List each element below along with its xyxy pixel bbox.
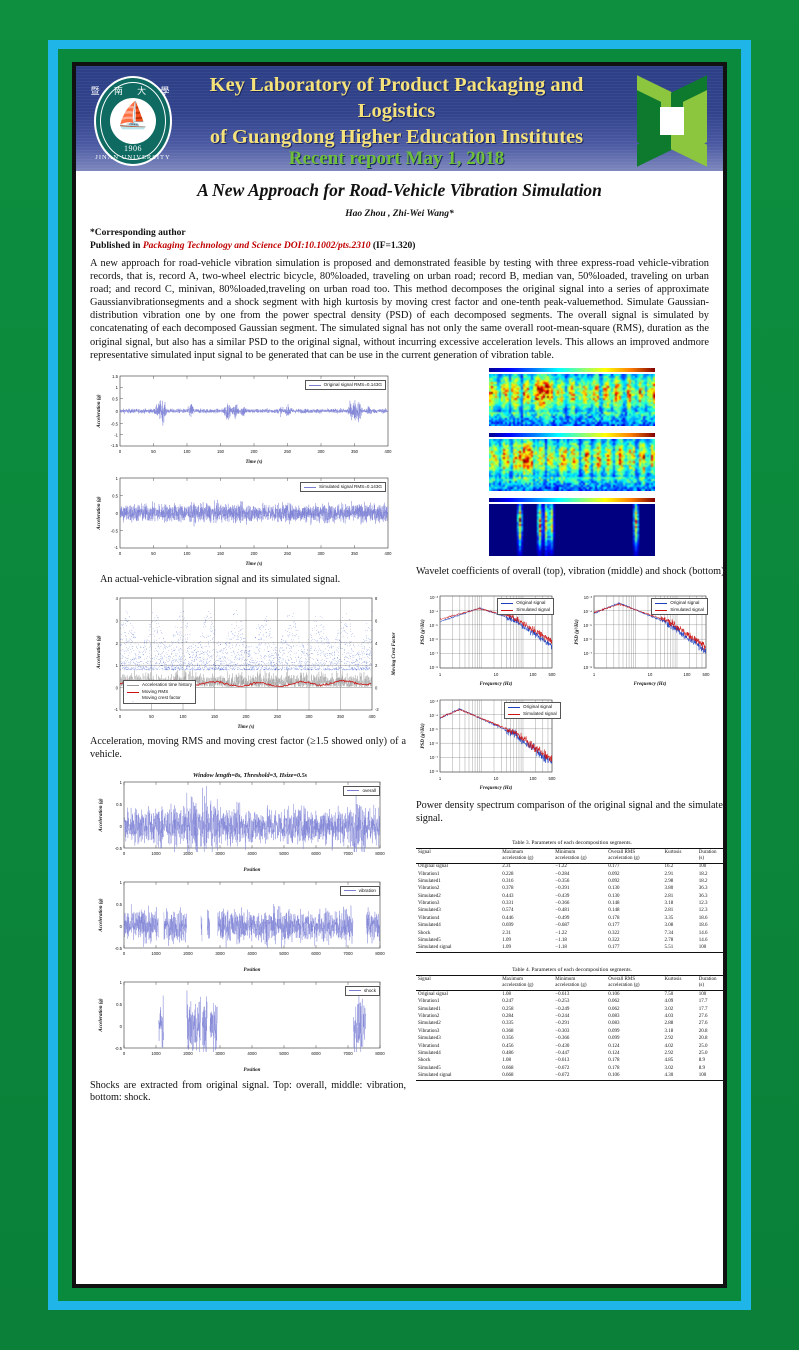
svg-text:0.5: 0.5 <box>116 902 122 907</box>
legend-swatch <box>127 692 139 693</box>
cell-value: 0.148 <box>606 900 662 907</box>
cell-value: 3.08 <box>662 923 696 930</box>
cell-value: 18.6 <box>697 923 723 930</box>
svg-text:400: 400 <box>369 714 377 719</box>
svg-text:0: 0 <box>116 409 119 414</box>
cell-value: 18.2 <box>697 878 723 885</box>
published-in-line: Published in Packaging Technology and Sc… <box>90 240 723 253</box>
svg-text:0: 0 <box>120 824 123 829</box>
svg-text:1: 1 <box>116 664 119 669</box>
legend-swatch <box>309 385 321 386</box>
cell-value: −0.356 <box>553 878 606 885</box>
cell-signal: Simulated signal <box>416 945 500 953</box>
svg-text:Time (s): Time (s) <box>246 460 263 465</box>
svg-text:4000: 4000 <box>247 851 257 856</box>
svg-text:4: 4 <box>375 641 378 646</box>
cell-value: −1.22 <box>553 930 606 937</box>
cell-value: −0.291 <box>553 1021 606 1028</box>
logo-university-name: JINAN UNIVERSITY <box>90 154 176 161</box>
th-signal: Signal <box>416 976 500 991</box>
cell-value: 2.81 <box>662 908 696 915</box>
cell-value: 0.668 <box>500 1065 553 1072</box>
svg-text:Acceleration (g): Acceleration (g) <box>97 496 102 531</box>
legend-decomp-vibration: vibration <box>340 886 380 897</box>
svg-text:150: 150 <box>217 551 225 556</box>
svg-text:-1: -1 <box>114 545 118 550</box>
svg-text:10⁻⁶: 10⁻⁶ <box>429 637 438 642</box>
th-rms-accel: Overall RMS acceleration (g) <box>606 848 662 863</box>
wav1-canvas <box>489 374 655 426</box>
table-row: Simulated40.699−0.6870.1773.0818.6 <box>416 923 723 930</box>
svg-text:1: 1 <box>120 880 123 885</box>
svg-text:3000: 3000 <box>215 851 225 856</box>
cell-value: −0.366 <box>553 900 606 907</box>
table-row: Simulated51.09−1.180.3222.7814.6 <box>416 937 723 944</box>
cell-value: 16.2 <box>662 863 696 871</box>
legend-label: overall <box>362 788 376 795</box>
legend-label: Simulated signal RMS=0.143G <box>319 484 382 491</box>
wavelet-figure-group <box>416 368 723 556</box>
table3: Signal Maximum acceleration (g) Minimum … <box>416 848 723 954</box>
svg-text:0.5: 0.5 <box>116 802 122 807</box>
cell-value: 0.099 <box>606 1036 662 1043</box>
svg-text:-0.5: -0.5 <box>115 846 123 851</box>
svg-text:-1: -1 <box>114 707 118 712</box>
chart-psd-shock: 1 10 100 500 10⁻³ 10⁻⁴ 10⁻⁵ 10⁻⁶ 10⁻⁷ 10… <box>416 692 723 792</box>
cell-value: 0.177 <box>606 945 662 953</box>
cell-signal: Simulated5 <box>416 937 500 944</box>
th-max-accel: Maximum acceleration (g) <box>500 976 553 991</box>
colorbar-jet-icon <box>489 498 655 502</box>
svg-text:250: 250 <box>274 714 282 719</box>
legend-swatch <box>349 990 361 991</box>
svg-text:100: 100 <box>530 672 538 677</box>
caption-signal-figure: An actual-vehicle-vibration signal and i… <box>100 574 406 587</box>
svg-text:2: 2 <box>375 664 378 669</box>
svg-text:3000: 3000 <box>215 951 225 956</box>
legend-psd-vibration: Original signal Simulated signal <box>651 598 708 615</box>
cell-value: 0.178 <box>606 1058 662 1065</box>
cell-value: 0.316 <box>500 878 553 885</box>
svg-text:0: 0 <box>123 1051 126 1056</box>
legend-decomp-overall: overall <box>343 786 380 797</box>
svg-text:4: 4 <box>116 596 119 601</box>
poster-page: 暨 南 大 學 ⛵ 1906 JINAN UNIVERSITY Key Labo… <box>76 66 723 1284</box>
table-row: Simulated30.574−0.4810.1482.8112.3 <box>416 908 723 915</box>
cell-value: 2.81 <box>662 893 696 900</box>
svg-text:Position: Position <box>244 968 261 973</box>
svg-text:0: 0 <box>119 449 122 454</box>
table-row: Simulated20.335−0.2910.0832.8827.6 <box>416 1021 723 1028</box>
cell-value: 12.3 <box>697 908 723 915</box>
svg-text:200: 200 <box>251 551 259 556</box>
cell-value: 36.3 <box>697 893 723 900</box>
svg-text:1000: 1000 <box>151 851 161 856</box>
svg-text:5000: 5000 <box>279 851 289 856</box>
cell-value: 0.177 <box>606 863 662 871</box>
cell-value: 2.92 <box>662 1036 696 1043</box>
svg-text:10⁻⁸: 10⁻⁸ <box>429 665 438 670</box>
table4-block: Table 4. Parameters of each decompositio… <box>416 967 723 1081</box>
cell-signal: Simulated1 <box>416 1006 500 1013</box>
legend-swatch <box>508 714 520 715</box>
cell-signal: Shock <box>416 1058 500 1065</box>
svg-text:250: 250 <box>284 551 292 556</box>
svg-text:50: 50 <box>151 551 156 556</box>
cell-value: 0.106 <box>606 991 662 999</box>
svg-text:Position: Position <box>244 1068 261 1073</box>
svg-text:10⁻³: 10⁻³ <box>430 699 439 704</box>
svg-text:6000: 6000 <box>311 851 321 856</box>
svg-text:10: 10 <box>648 672 653 677</box>
legend-swatch <box>501 610 513 611</box>
cell-value: 0.574 <box>500 908 553 915</box>
cell-signal: Simulated4 <box>416 923 500 930</box>
svg-text:2000: 2000 <box>183 1051 193 1056</box>
cell-value: 2.91 <box>662 871 696 878</box>
svg-text:1: 1 <box>120 980 123 985</box>
svg-text:1.5: 1.5 <box>112 374 118 379</box>
cell-value: 100 <box>697 863 723 871</box>
table4-caption: Table 4. Parameters of each decompositio… <box>416 967 723 973</box>
legend-swatch <box>508 707 520 708</box>
svg-text:0: 0 <box>375 686 378 691</box>
cell-value: 2.31 <box>500 863 553 871</box>
legend-crest-factor: Acceleration time history Moving RMS ·Mo… <box>123 680 196 704</box>
svg-text:0: 0 <box>123 951 126 956</box>
cell-value: 36.3 <box>697 886 723 893</box>
svg-text:500: 500 <box>703 672 711 677</box>
cell-value: 14.6 <box>697 937 723 944</box>
table-row: Shock1.08−0.6130.1784.858.9 <box>416 1058 723 1065</box>
svg-text:2: 2 <box>116 641 119 646</box>
cell-value: 20.8 <box>697 1036 723 1043</box>
abstract-text: A new approach for road-vehicle vibratio… <box>90 257 709 362</box>
svg-text:1000: 1000 <box>151 951 161 956</box>
cell-value: 0.668 <box>500 1073 553 1081</box>
svg-text:4000: 4000 <box>247 1051 257 1056</box>
cell-value: 4.85 <box>662 1058 696 1065</box>
cell-value: −0.284 <box>553 871 606 878</box>
svg-text:0: 0 <box>120 924 123 929</box>
cell-value: 3.80 <box>662 886 696 893</box>
cell-signal: Simulated2 <box>416 1021 500 1028</box>
psd-row: 1 10 100 500 10⁻³ 10⁻⁴ 10⁻⁵ 10⁻⁶ 10⁻⁷ 10… <box>416 588 723 688</box>
svg-text:2000: 2000 <box>183 851 193 856</box>
cell-value: −0.253 <box>553 999 606 1006</box>
cell-signal: Vibration2 <box>416 1013 500 1020</box>
th-kurtosis: Kurtosis <box>662 848 696 863</box>
table3-body: Original signal2.31−1.220.17716.2100Vibr… <box>416 863 723 953</box>
table-row: Vibration40.456−0.4300.1244.0225.0 <box>416 1043 723 1050</box>
svg-text:Window length=8s, Threshold=3,: Window length=8s, Threshold=3, Hsize=0.5… <box>193 772 308 779</box>
cell-value: −1.18 <box>553 937 606 944</box>
cell-value: 1.08 <box>500 991 553 999</box>
svg-text:Acceleration (g): Acceleration (g) <box>99 898 104 933</box>
cell-value: 17.7 <box>697 1006 723 1013</box>
svg-text:PSD (g²/Hz): PSD (g²/Hz) <box>420 723 426 749</box>
cell-value: 0.322 <box>606 930 662 937</box>
cell-signal: Vibration3 <box>416 1028 500 1035</box>
legend-swatch <box>127 685 139 686</box>
svg-text:100: 100 <box>684 672 692 677</box>
th-rms-accel: Overall RMS acceleration (g) <box>606 976 662 991</box>
table-row: Original signal1.08−0.6130.1067.50100 <box>416 991 723 999</box>
cell-value: 0.322 <box>606 937 662 944</box>
table-row: Vibration40.446−0.4990.1783.3518.6 <box>416 915 723 922</box>
svg-text:10⁻⁵: 10⁻⁵ <box>583 623 592 628</box>
cell-value: 8.9 <box>697 1065 723 1072</box>
poster-border-cyan: 暨 南 大 學 ⛵ 1906 JINAN UNIVERSITY Key Labo… <box>48 40 751 1310</box>
poster-border-green: 暨 南 大 學 ⛵ 1906 JINAN UNIVERSITY Key Labo… <box>58 49 741 1301</box>
svg-text:1000: 1000 <box>151 1051 161 1056</box>
svg-text:Acceleration (g): Acceleration (g) <box>99 998 104 1033</box>
legend-label: shock <box>364 988 376 995</box>
svg-text:0: 0 <box>116 511 119 516</box>
cell-value: 27.6 <box>697 1021 723 1028</box>
publication-info: *Corresponding author Published in Packa… <box>90 227 723 253</box>
table-row: Vibration20.378−0.3910.1303.8036.3 <box>416 886 723 893</box>
cell-value: −1.22 <box>553 863 606 871</box>
table4: Signal Maximum acceleration (g) Minimum … <box>416 975 723 1081</box>
left-column: 0 50 100 150 200 250 300 350 400 1.5 1 <box>90 368 406 1111</box>
wavelet-overall <box>489 368 655 426</box>
svg-text:300: 300 <box>318 449 326 454</box>
cell-value: 5.51 <box>662 945 696 953</box>
cell-value: 7.34 <box>662 930 696 937</box>
chart-decomp-overall: Window length=8s, Threshold=3, Hsize=0.5… <box>90 768 406 876</box>
legend-decomp-shock: shock <box>345 986 380 997</box>
table-row: Vibration30.331−0.3660.1483.1812.3 <box>416 900 723 907</box>
cell-signal: Simulated4 <box>416 1050 500 1057</box>
chart-decomp-vibration: 010002000300040005000600070008000 1 0.5 … <box>90 876 406 976</box>
svg-text:6000: 6000 <box>311 1051 321 1056</box>
svg-text:0: 0 <box>116 686 119 691</box>
svg-text:10⁻³: 10⁻³ <box>584 595 593 600</box>
table-row: Simulated signal1.09−1.180.1775.51100 <box>416 945 723 953</box>
caption-crest-figure: Acceleration, moving RMS and moving cres… <box>90 736 406 761</box>
cell-value: 0.456 <box>500 1043 553 1050</box>
svg-text:8: 8 <box>375 596 378 601</box>
cell-signal: Vibration3 <box>416 900 500 907</box>
table-row: Vibration30.368−0.3030.0993.1820.8 <box>416 1028 723 1035</box>
author-list: Hao Zhou , Zhi-Wei Wang* <box>76 209 723 219</box>
table-row: Vibration10.228−0.2840.0922.9118.2 <box>416 871 723 878</box>
svg-text:0: 0 <box>119 551 122 556</box>
svg-text:Moving Crest Factor: Moving Crest Factor <box>392 633 397 677</box>
svg-text:100: 100 <box>184 551 192 556</box>
cell-signal: Simulated signal <box>416 1073 500 1081</box>
cell-signal: Simulated3 <box>416 1036 500 1043</box>
cell-value: 27.6 <box>697 1013 723 1020</box>
svg-text:10⁻³: 10⁻³ <box>430 595 439 600</box>
svg-text:50: 50 <box>151 449 156 454</box>
cell-signal: Shock <box>416 930 500 937</box>
report-date: Recent report May 1, 2018 <box>180 147 613 170</box>
svg-text:Time (s): Time (s) <box>246 562 263 567</box>
cell-signal: Vibration4 <box>416 915 500 922</box>
svg-text:1: 1 <box>116 476 119 481</box>
table4-header-row: Signal Maximum acceleration (g) Minimum … <box>416 976 723 991</box>
svg-text:4000: 4000 <box>247 951 257 956</box>
cell-value: −0.672 <box>553 1073 606 1081</box>
table-row: Simulated30.356−0.3660.0992.9220.8 <box>416 1036 723 1043</box>
cell-value: 100 <box>697 1073 723 1081</box>
cell-value: 2.98 <box>662 878 696 885</box>
wav3-canvas <box>489 504 655 556</box>
svg-text:PSD (g²/Hz): PSD (g²/Hz) <box>574 619 580 645</box>
svg-text:Time (s): Time (s) <box>238 725 255 730</box>
cell-signal: Vibration1 <box>416 871 500 878</box>
svg-text:7000: 7000 <box>343 851 353 856</box>
cell-value: 0.356 <box>500 1036 553 1043</box>
svg-text:100: 100 <box>530 776 538 781</box>
cell-signal: Simulated5 <box>416 1065 500 1072</box>
cell-value: −0.447 <box>553 1050 606 1057</box>
svg-text:1: 1 <box>120 780 123 785</box>
legend-swatch <box>655 610 667 611</box>
svg-text:500: 500 <box>549 672 557 677</box>
cell-value: 0.331 <box>500 900 553 907</box>
svg-text:3: 3 <box>116 619 119 624</box>
svg-text:Frequency (Hz): Frequency (Hz) <box>480 786 513 791</box>
svg-text:10⁻⁶: 10⁻⁶ <box>583 637 592 642</box>
cell-value: 1.09 <box>500 945 553 953</box>
svg-text:5000: 5000 <box>279 951 289 956</box>
cell-value: 2.88 <box>662 1021 696 1028</box>
th-min-accel: Minimum acceleration (g) <box>553 976 606 991</box>
logo-top-text: 暨 南 大 學 <box>90 84 176 97</box>
svg-text:Position: Position <box>244 868 261 873</box>
cell-value: 17.7 <box>697 999 723 1006</box>
svg-text:1: 1 <box>439 776 442 781</box>
legend-swatch <box>347 790 359 791</box>
svg-text:250: 250 <box>284 449 292 454</box>
svg-text:0: 0 <box>123 851 126 856</box>
svg-text:150: 150 <box>217 449 225 454</box>
table-row: Simulated signal0.668−0.6720.1064.30100 <box>416 1073 723 1081</box>
chart-psd-overall: 1 10 100 500 10⁻³ 10⁻⁴ 10⁻⁵ 10⁻⁶ 10⁻⁷ 10… <box>416 588 566 688</box>
svg-text:10⁻⁴: 10⁻⁴ <box>583 609 592 614</box>
cell-value: 8.9 <box>697 1058 723 1065</box>
svg-text:100: 100 <box>180 714 188 719</box>
cell-value: 3.18 <box>662 1028 696 1035</box>
svg-text:10⁻⁸: 10⁻⁸ <box>583 665 592 670</box>
legend-psd-overall: Original signal Simulated signal <box>497 598 554 615</box>
svg-text:-1.5: -1.5 <box>111 443 119 448</box>
svg-text:350: 350 <box>351 551 359 556</box>
university-logo-icon: 暨 南 大 學 ⛵ 1906 JINAN UNIVERSITY <box>90 74 176 166</box>
logo-year: 1906 <box>90 144 176 153</box>
colorbar-jet-icon <box>489 368 655 372</box>
legend-swatch <box>304 487 316 488</box>
cell-value: 100 <box>697 945 723 953</box>
cell-value: 0.258 <box>500 1006 553 1013</box>
svg-text:10⁻⁴: 10⁻⁴ <box>429 713 438 718</box>
wavelet-overall-image <box>489 374 655 426</box>
svg-text:10⁻⁴: 10⁻⁴ <box>429 609 438 614</box>
cell-value: 0.062 <box>606 999 662 1006</box>
svg-text:6000: 6000 <box>311 951 321 956</box>
svg-text:6: 6 <box>375 619 378 624</box>
banner-title-block: Key Laboratory of Product Packaging and … <box>180 72 613 170</box>
svg-text:3000: 3000 <box>215 1051 225 1056</box>
svg-text:200: 200 <box>243 714 251 719</box>
svg-text:400: 400 <box>385 551 393 556</box>
journal-name: Packaging Technology and Science DOI:10.… <box>143 241 371 251</box>
table-row: Simulated40.486−0.4470.1242.9225.0 <box>416 1050 723 1057</box>
logo-sail-icon: ⛵ <box>110 101 156 131</box>
cell-value: 12.3 <box>697 900 723 907</box>
cell-signal: Simulated3 <box>416 908 500 915</box>
table3-caption: Table 3. Parameters of each decompositio… <box>416 840 723 846</box>
cell-signal: Simulated2 <box>416 893 500 900</box>
legend-label: Moving crest factor <box>142 695 181 702</box>
cell-value: 3.35 <box>662 915 696 922</box>
colorbar-jet-icon <box>489 433 655 437</box>
legend-label: Original signal RMS=0.143G <box>324 382 382 389</box>
cell-value: 3.02 <box>662 1065 696 1072</box>
cell-value: −0.613 <box>553 1058 606 1065</box>
svg-text:Acceleration (g): Acceleration (g) <box>97 394 102 429</box>
svg-text:350: 350 <box>351 449 359 454</box>
cell-value: −1.18 <box>553 945 606 953</box>
cell-value: 0.083 <box>606 1013 662 1020</box>
th-min-accel: Minimum acceleration (g) <box>553 848 606 863</box>
cell-signal: Original signal <box>416 863 500 871</box>
svg-text:-0.5: -0.5 <box>115 1046 123 1051</box>
cell-value: −0.391 <box>553 886 606 893</box>
cell-value: −0.613 <box>553 991 606 999</box>
table4-head: Signal Maximum acceleration (g) Minimum … <box>416 976 723 991</box>
svg-text:400: 400 <box>385 449 393 454</box>
svg-text:7000: 7000 <box>343 1051 353 1056</box>
wavelet-shock-image <box>489 504 655 556</box>
svg-text:10⁻⁷: 10⁻⁷ <box>430 755 439 760</box>
legend-label: Simulated signal <box>670 607 704 614</box>
cell-value: 4.02 <box>662 1043 696 1050</box>
cell-value: 18.6 <box>697 915 723 922</box>
svg-text:7000: 7000 <box>343 951 353 956</box>
legend-label: Simulated signal <box>516 607 550 614</box>
th-duration: Duration (s) <box>697 848 723 863</box>
svg-text:-1: -1 <box>114 432 118 437</box>
table-row: Simulated10.316−0.3560.0922.9818.2 <box>416 878 723 885</box>
table4-body: Original signal1.08−0.6130.1067.50100Vib… <box>416 991 723 1081</box>
cell-value: 0.247 <box>500 999 553 1006</box>
svg-text:0.5: 0.5 <box>112 493 118 498</box>
right-column: Wavelet coefficients of overall (top), v… <box>416 368 723 1081</box>
svg-text:300: 300 <box>306 714 314 719</box>
svg-text:10⁻⁷: 10⁻⁷ <box>584 651 593 656</box>
cell-value: −0.303 <box>553 1028 606 1035</box>
cell-value: 1.08 <box>500 1058 553 1065</box>
cell-value: 0.335 <box>500 1021 553 1028</box>
cell-value: −0.430 <box>553 1043 606 1050</box>
cell-value: −0.687 <box>553 923 606 930</box>
svg-text:8000: 8000 <box>375 951 385 956</box>
svg-text:2000: 2000 <box>183 951 193 956</box>
poster-border-black: 暨 南 大 學 ⛵ 1906 JINAN UNIVERSITY Key Labo… <box>72 62 727 1288</box>
legend-swatch <box>655 603 667 604</box>
wavelet-vibration <box>489 433 655 491</box>
chart-original-signal: 0 50 100 150 200 250 300 350 400 1.5 1 <box>90 368 406 468</box>
svg-text:-2: -2 <box>375 707 379 712</box>
svg-text:150: 150 <box>211 714 219 719</box>
svg-text:10: 10 <box>494 776 499 781</box>
poster-header-banner: 暨 南 大 學 ⛵ 1906 JINAN UNIVERSITY Key Labo… <box>76 66 723 171</box>
chart-psd-vibration: 1 10 100 500 10⁻³ 10⁻⁴ 10⁻⁵ 10⁻⁶ 10⁻⁷ 10… <box>570 588 720 688</box>
